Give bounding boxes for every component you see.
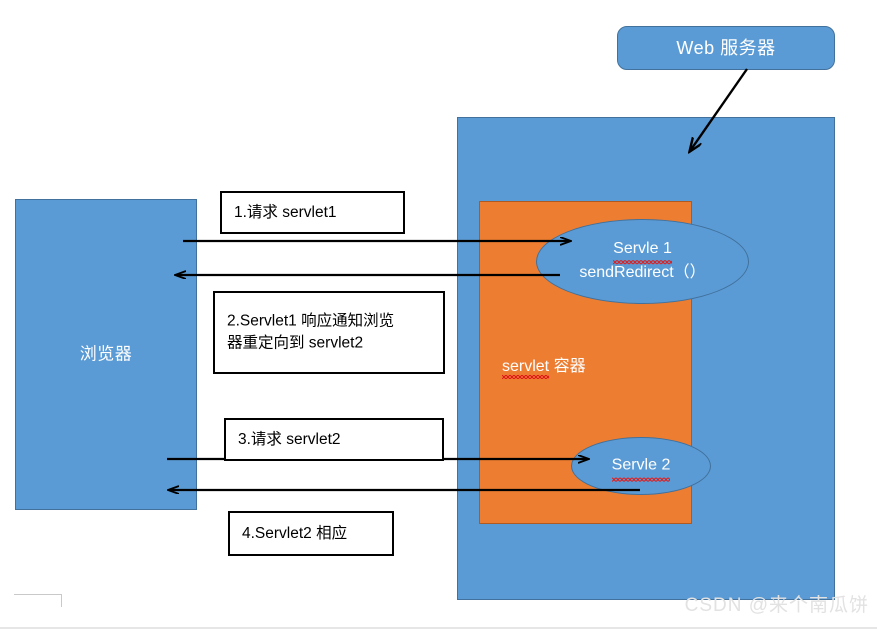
servlet2-name: Servle 2 (612, 454, 671, 479)
label-1-text: 1.请求 servlet1 (234, 201, 395, 223)
browser-label: 浏览器 (16, 343, 196, 366)
web-server-callout-label: Web 服务器 (618, 36, 834, 60)
csdn-watermark: CSDN @来个南瓜饼 (685, 590, 869, 617)
label-box-2[interactable]: 2.Servlet1 响应通知浏览 器重定向到 servlet2 (213, 291, 445, 374)
stray-ui-line (14, 594, 62, 607)
browser-box[interactable]: 浏览器 (15, 199, 197, 510)
label-2-text: 2.Servlet1 响应通知浏览 器重定向到 servlet2 (227, 310, 435, 355)
servlet-container-label: servlet 容器 (502, 352, 586, 376)
servlet1-ellipse[interactable]: Servle 1 sendRedirect（） (536, 219, 749, 304)
servlet-container-label-en: servlet (502, 358, 549, 376)
web-server-callout[interactable]: Web 服务器 (617, 26, 835, 70)
label-2-line-2: 器重定向到 servlet2 (227, 333, 435, 355)
label-4-text: 4.Servlet2 相应 (242, 522, 384, 544)
diagram-canvas: Web 服务器 servlet 容器 Servle 1 sendRedirect… (0, 0, 877, 629)
servlet1-text-stack: Servle 1 sendRedirect（） (537, 237, 748, 287)
servlet1-method: sendRedirect（） (537, 262, 748, 287)
servlet1-name: Servle 1 (613, 237, 672, 262)
label-2-line-1: 2.Servlet1 响应通知浏览 (227, 310, 435, 332)
servlet-container-label-cn: 容器 (549, 358, 585, 375)
label-box-4[interactable]: 4.Servlet2 相应 (228, 511, 394, 556)
label-3-text: 3.请求 servlet2 (238, 428, 434, 450)
servlet2-text-stack: Servle 2 (572, 454, 710, 479)
servlet2-ellipse[interactable]: Servle 2 (571, 437, 711, 495)
label-box-1[interactable]: 1.请求 servlet1 (220, 191, 405, 234)
label-box-3[interactable]: 3.请求 servlet2 (224, 418, 444, 461)
